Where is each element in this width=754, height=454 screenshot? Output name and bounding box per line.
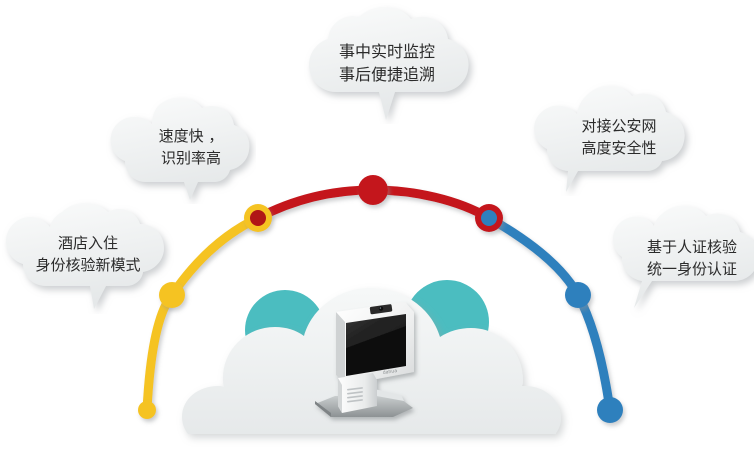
arc-segment-blue: [489, 218, 610, 410]
arc-nodes: [138, 175, 623, 423]
callout-identity-verification[interactable]: 基于人证核验 统一身份认证: [606, 200, 754, 318]
callout-speed-accuracy[interactable]: 速度快 ， 识别率高: [106, 92, 256, 204]
node-blue-end: [597, 397, 623, 423]
callout-hotel-checkin[interactable]: 酒店入住 身份核验新模式: [2, 196, 174, 314]
node-yellow-red-core: [250, 210, 266, 226]
node-yellow-end: [138, 401, 156, 419]
node-red-blue-core: [481, 210, 497, 226]
callout-public-security-network[interactable]: 对接公安网 高度安全性: [530, 80, 696, 196]
node-red-apex: [358, 175, 388, 205]
diagram-canvas: 酒店人证核验系统架构示意图: [0, 0, 754, 454]
callout-realtime-monitor[interactable]: 事中实时监控 事后便捷追溯: [296, 2, 478, 124]
node-blue-mid: [565, 282, 591, 308]
